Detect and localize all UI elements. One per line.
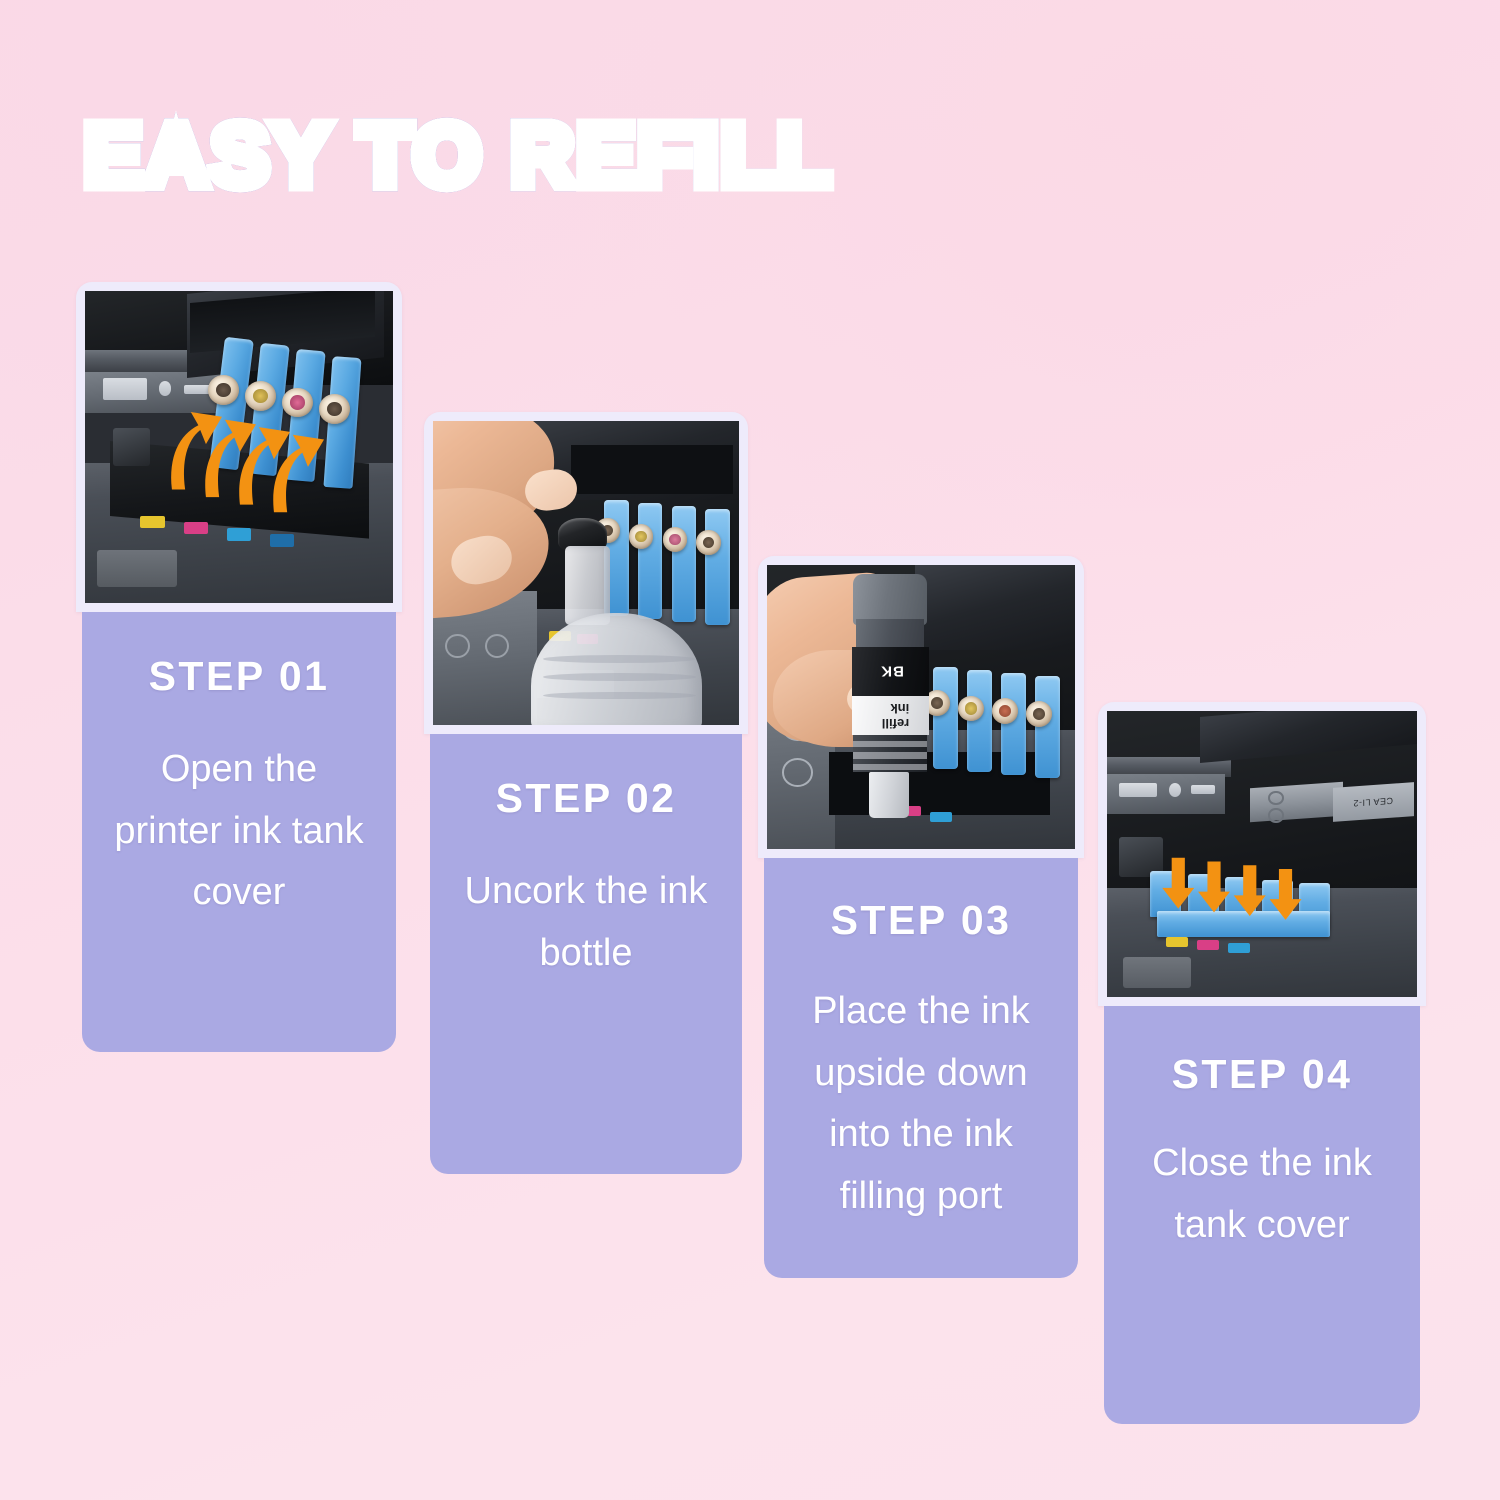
page-title: EASY TO REFILL <box>84 112 833 199</box>
step-3-description: Place the ink upside down into the ink f… <box>764 981 1078 1227</box>
bottle-nozzle <box>869 772 909 817</box>
bottle-label-bk: BK <box>852 647 929 695</box>
bottle-label-text: BK <box>880 663 904 680</box>
step-3-text-panel: STEP 03 Place the ink upside down into t… <box>764 858 1078 1278</box>
step-4-label: STEP 04 <box>1104 1054 1420 1095</box>
step-4-text-panel: STEP 04 Close the ink tank cover <box>1104 1006 1420 1424</box>
bottle-label-refill: refill ink <box>852 696 929 736</box>
step-3-photo: BK refill ink <box>767 565 1075 849</box>
step-1-text-panel: STEP 01 Open the printer ink tank cover <box>82 612 396 1052</box>
step-2-text-panel: STEP 02 Uncork the ink bottle <box>430 734 742 1174</box>
step-4-photo-frame: CEA LI-2 <box>1098 702 1426 1006</box>
step-4-description: Close the ink tank cover <box>1104 1133 1420 1256</box>
ink-bottle <box>853 574 927 625</box>
bottle-refill-text: refill ink <box>871 701 910 731</box>
step-1-description: Open the printer ink tank cover <box>82 739 396 924</box>
step-1-photo <box>85 291 393 603</box>
step-4-photo: CEA LI-2 <box>1107 711 1417 997</box>
step-1-photo-frame <box>76 282 402 612</box>
close-arrow-icon <box>1107 711 1417 997</box>
step-2-label: STEP 02 <box>430 778 742 819</box>
step-3-photo-frame: BK refill ink <box>758 556 1084 858</box>
step-3-label: STEP 03 <box>764 900 1078 941</box>
step-2-description: Uncork the ink bottle <box>430 861 742 984</box>
step-2-photo <box>433 421 739 725</box>
step-1-label: STEP 01 <box>82 656 396 697</box>
open-arrow-icon <box>85 291 393 603</box>
step-2-photo-frame <box>424 412 748 734</box>
